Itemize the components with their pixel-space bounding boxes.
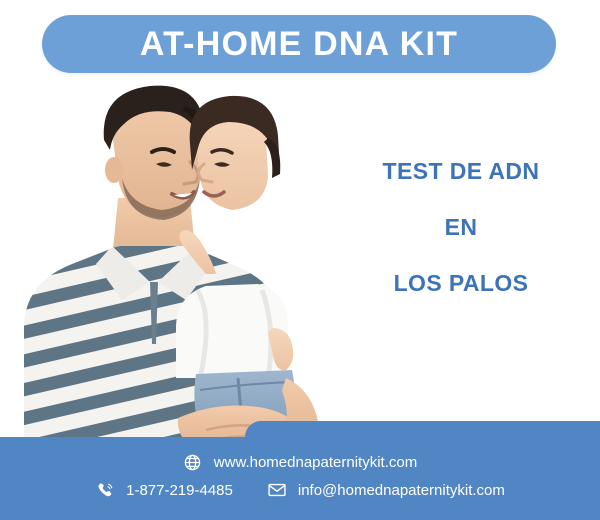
family-photo-illustration: [0, 78, 340, 450]
footer-contact-bar: www.homednapaternitykit.com 1-877-219-44…: [0, 437, 600, 520]
headline-line-2: EN: [330, 216, 592, 239]
website-link[interactable]: www.homednapaternitykit.com: [183, 452, 417, 472]
family-photo: [0, 78, 340, 450]
footer-rows: www.homednapaternitykit.com 1-877-219-44…: [0, 437, 600, 504]
footer-row-website: www.homednapaternitykit.com: [0, 448, 600, 476]
page-title: AT-HOME DNA KIT: [140, 27, 458, 61]
phone-link[interactable]: 1-877-219-4485: [95, 480, 233, 500]
phone-text: 1-877-219-4485: [126, 483, 233, 498]
header-banner: AT-HOME DNA KIT: [42, 15, 556, 73]
headline-line-1: TEST DE ADN: [330, 160, 592, 183]
headline-line-3: LOS PALOS: [330, 272, 592, 295]
website-text: www.homednapaternitykit.com: [214, 455, 417, 470]
headline-block: TEST DE ADN EN LOS PALOS: [330, 160, 592, 295]
envelope-icon: [267, 480, 287, 500]
globe-icon: [183, 452, 203, 472]
poster: AT-HOME DNA KIT: [0, 0, 600, 520]
email-text: info@homednapaternitykit.com: [298, 483, 505, 498]
email-link[interactable]: info@homednapaternitykit.com: [267, 480, 505, 500]
phone-icon: [95, 480, 115, 500]
footer-row-phone-email: 1-877-219-4485 info@homednapaternitykit.…: [0, 476, 600, 504]
